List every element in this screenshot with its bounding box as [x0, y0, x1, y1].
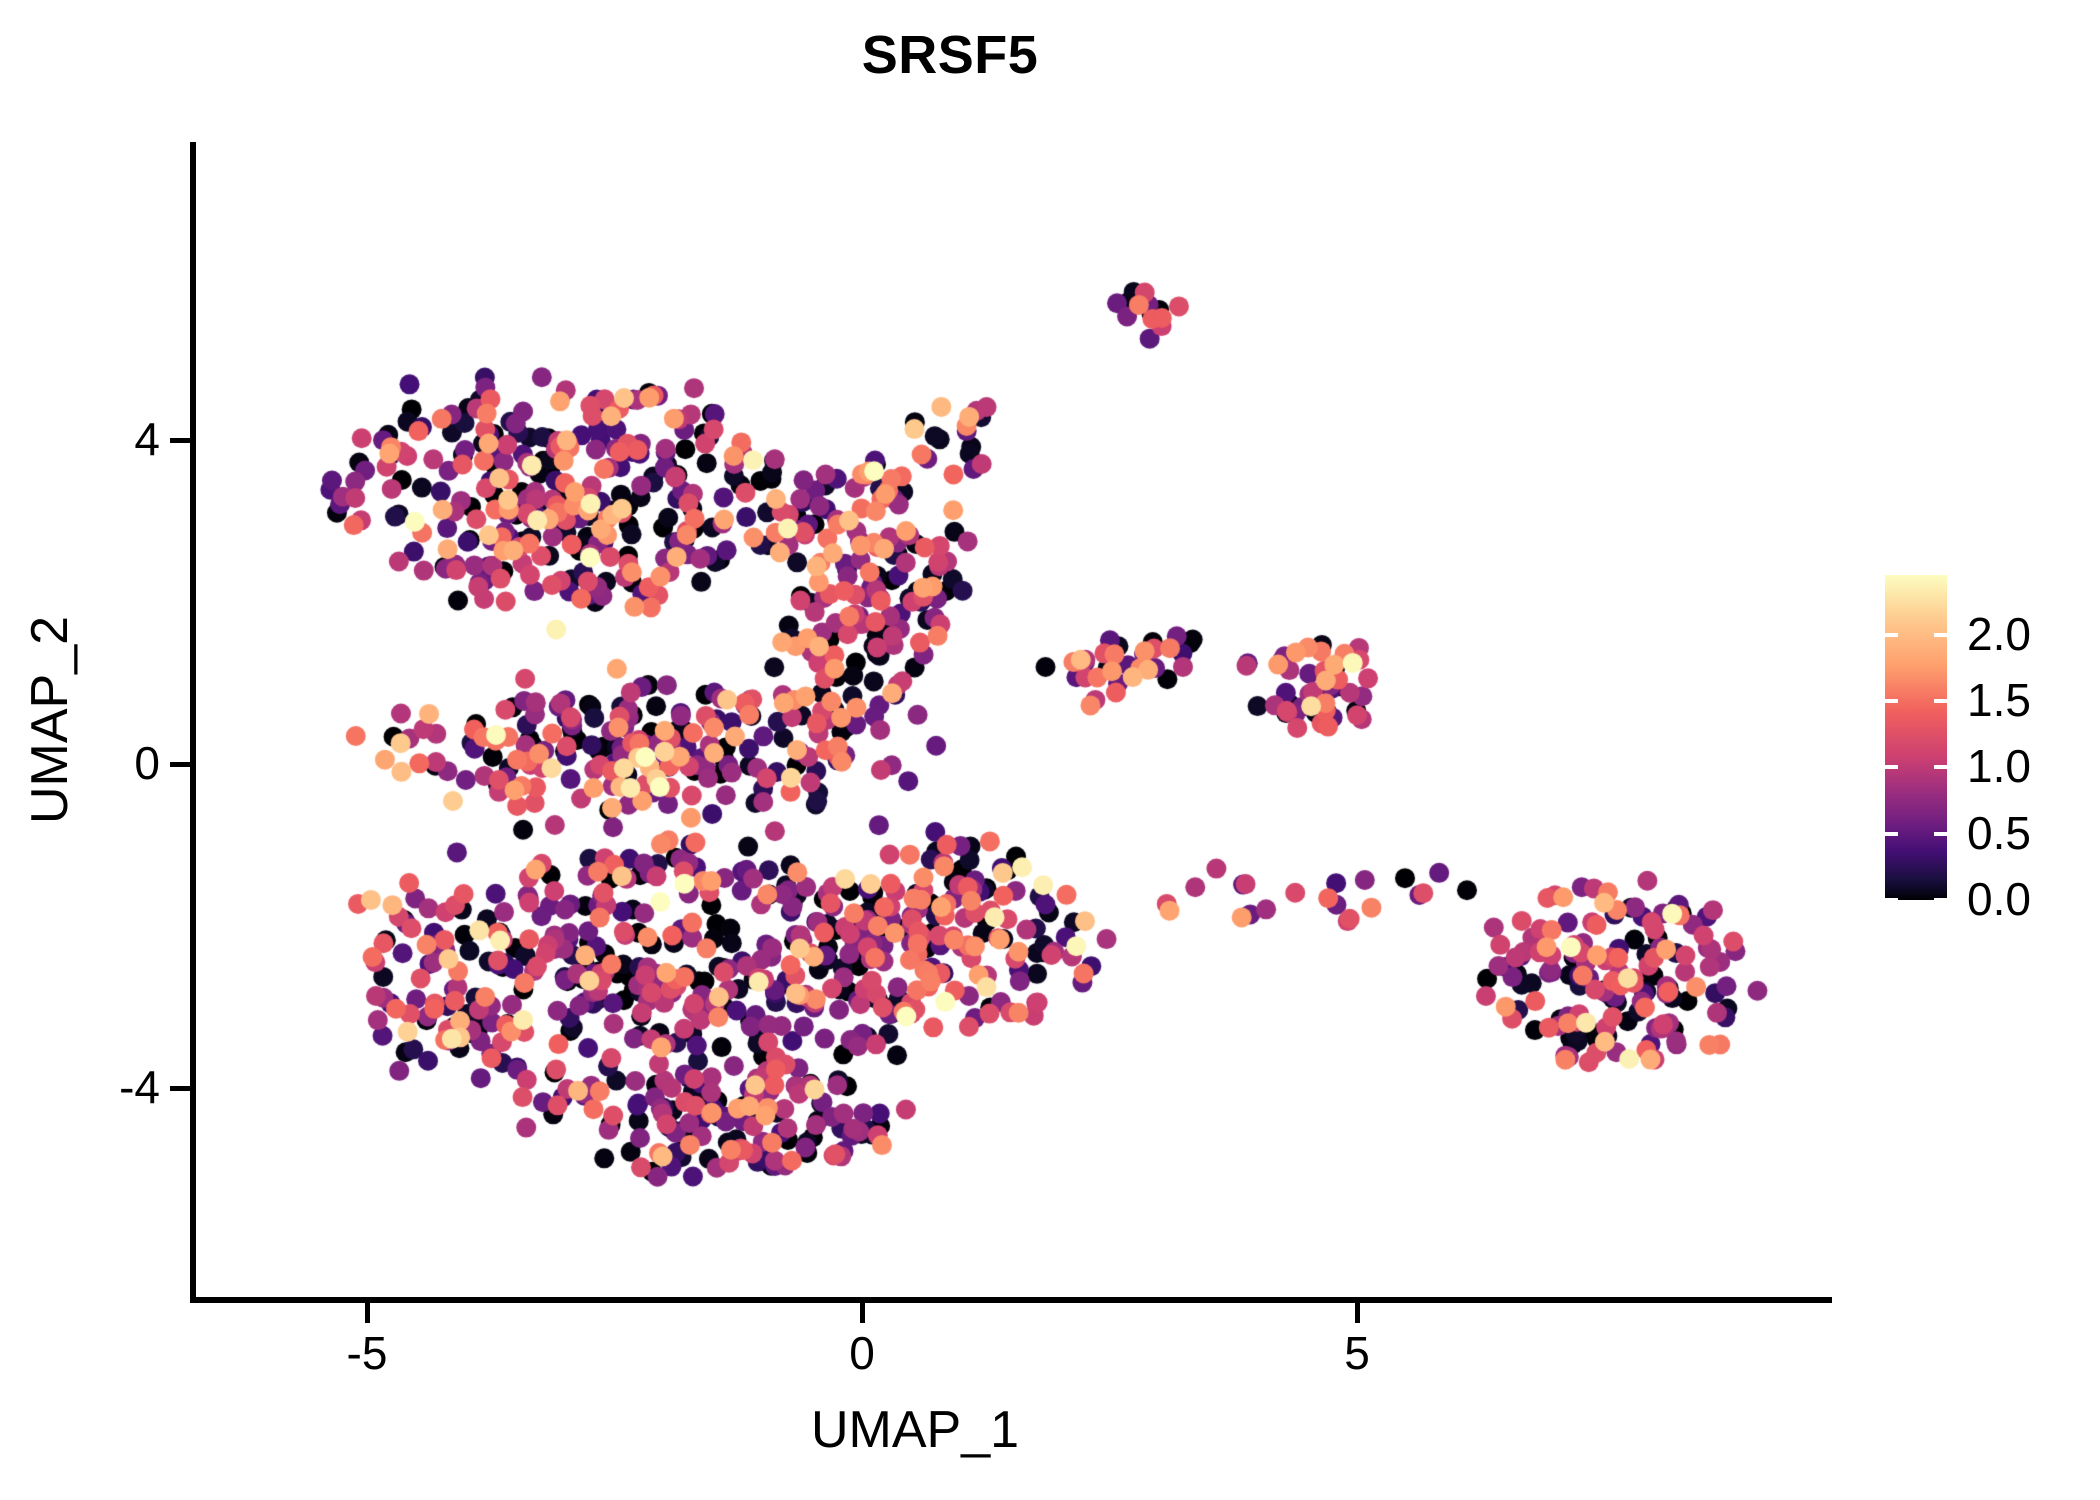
x-tick-mark [365, 1303, 370, 1323]
x-tick-label: 0 [782, 1330, 942, 1376]
colorbar-tick-mark [1934, 898, 1947, 902]
colorbar-tick-mark [1885, 765, 1898, 769]
page-title: SRSF5 [0, 26, 1900, 85]
colorbar-tick-mark [1885, 633, 1898, 637]
colorbar-tick-mark [1934, 765, 1947, 769]
colorbar-tick-mark [1885, 898, 1898, 902]
colorbar-tick-mark [1885, 832, 1898, 836]
colorbar-tick-label: 1.5 [1967, 677, 2031, 723]
x-tick-label: 5 [1277, 1330, 1437, 1376]
y-tick-mark [170, 438, 190, 443]
x-tick-mark [1355, 1303, 1360, 1323]
colorbar-tick-mark [1934, 832, 1947, 836]
colorbar-tick-label: 1.0 [1967, 743, 2031, 789]
y-axis-label: UMAP_2 [20, 370, 80, 1070]
colorbar-tick-mark [1934, 633, 1947, 637]
y-tick-label: -4 [40, 1064, 160, 1110]
colorbar-tick-label: 0.0 [1967, 876, 2031, 922]
plot-panel [195, 142, 1830, 1300]
x-axis-line [190, 1297, 1832, 1303]
colorbar-tick-mark [1934, 699, 1947, 703]
y-axis-line [190, 142, 196, 1302]
y-tick-mark [170, 762, 190, 767]
colorbar-gradient [1885, 575, 1947, 900]
scatter-plot-canvas [195, 142, 1830, 1300]
colorbar-tick-label: 2.0 [1967, 611, 2031, 657]
umap-feature-plot: SRSF5 -404 -505 UMAP_1 UMAP_2 0.00.51.01… [0, 0, 2100, 1500]
colorbar-tick-mark [1885, 699, 1898, 703]
colorbar-tick-label: 0.5 [1967, 810, 2031, 856]
y-tick-mark [170, 1086, 190, 1091]
x-axis-label: UMAP_1 [0, 1400, 1830, 1460]
x-tick-mark [860, 1303, 865, 1323]
colorbar-legend: 0.00.51.01.52.0 [1885, 575, 2085, 905]
x-tick-label: -5 [287, 1330, 447, 1376]
